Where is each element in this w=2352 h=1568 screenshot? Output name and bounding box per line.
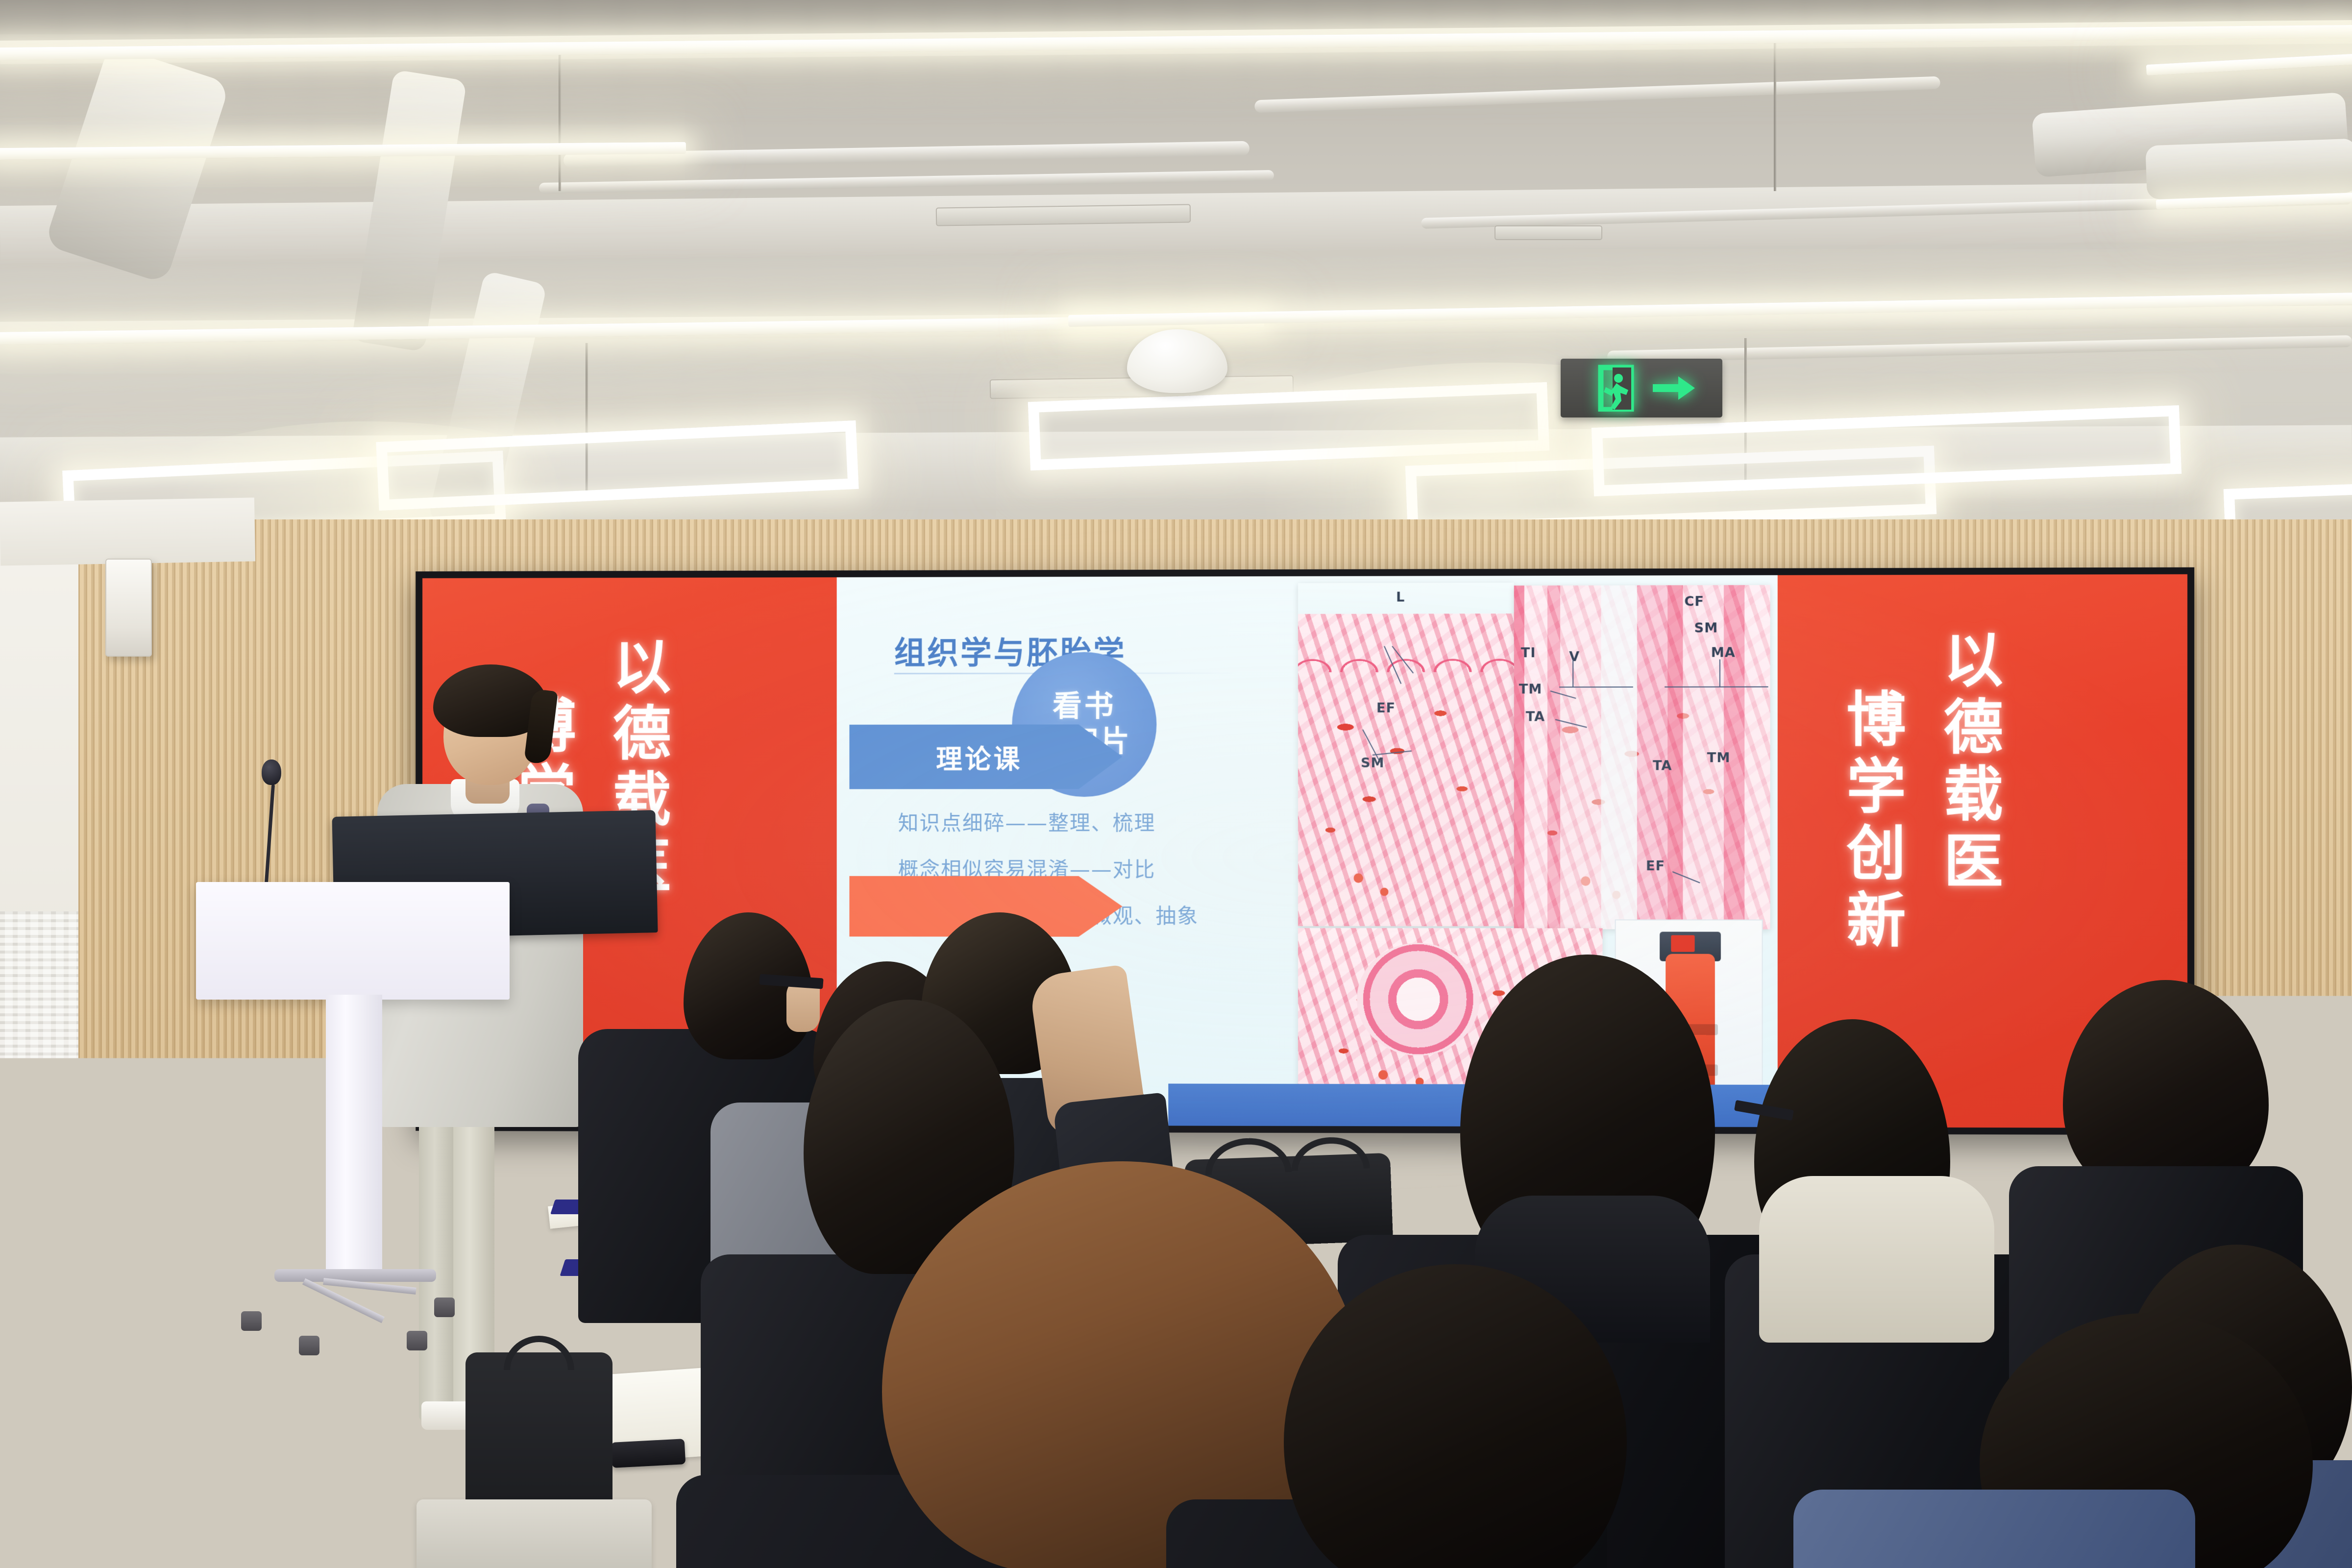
slide-blue-arrow: 理论课 xyxy=(849,724,1122,789)
calligraphy-right-col-1: 以德载医 xyxy=(1925,629,2009,956)
micro-label-MA: MA xyxy=(1711,645,1736,660)
podium-desk-surface[interactable] xyxy=(196,882,510,1000)
micro-label-CF: CF xyxy=(1684,594,1704,609)
circle-badge-line1: 看书 xyxy=(1053,691,1116,723)
podium-microphone-head[interactable] xyxy=(262,759,281,785)
podium-base-plate xyxy=(274,1269,436,1282)
exit-arrow-right-icon xyxy=(1652,373,1697,403)
micro-label-SM: SM xyxy=(1361,756,1384,771)
calligraphy-right: 以德载医 博学创新 xyxy=(1828,629,2010,956)
blue-arrow-label: 理论课 xyxy=(936,737,1022,776)
running-man-exit-icon xyxy=(1586,365,1645,412)
smartphone-on-desk[interactable] xyxy=(611,1439,686,1468)
slide-bullet-1: 知识点细碎——整理、梳理 xyxy=(898,807,1199,836)
wall-soffit xyxy=(0,497,255,565)
micro-label-TA-2: TA xyxy=(1653,758,1672,773)
lecture-hall-photo: 以德载医 博学创新 以德载医 博学创新 组织学与胚胎学 看书 看切片 理论课 xyxy=(0,0,2352,1568)
emergency-exit-sign xyxy=(1561,359,1722,417)
podium-caster-3 xyxy=(407,1331,427,1350)
micro-label-L: L xyxy=(1396,590,1405,605)
micro-label-EF-2: EF xyxy=(1646,858,1665,874)
jacket-hood-beige xyxy=(1759,1176,1994,1343)
micro-label-TI: TI xyxy=(1521,645,1536,661)
podium-caster-4 xyxy=(434,1298,455,1317)
micro-label-TM-2: TM xyxy=(1707,750,1731,765)
ceiling-diffuser-3 xyxy=(1494,225,1602,240)
hvac-duct-right-2 xyxy=(2145,139,2352,200)
wall-speaker xyxy=(105,559,152,657)
ceiling-hanger-1 xyxy=(559,44,561,191)
micro-label-TM: TM xyxy=(1519,682,1542,697)
micro-label-TA: TA xyxy=(1526,709,1545,724)
ceiling-diffuser-1 xyxy=(936,204,1191,226)
micro-label-V: V xyxy=(1569,649,1580,664)
micrograph-right: CF SM MA TI V TM TA TM TA EF xyxy=(1514,585,1770,930)
chair-back-left xyxy=(416,1499,652,1568)
podium-column xyxy=(326,995,382,1269)
micro-label-EF: EF xyxy=(1376,701,1396,716)
micrograph-left: L EF SM xyxy=(1298,583,1514,926)
micro-label-SM-r: SM xyxy=(1694,620,1718,636)
ceiling-hanger-2 xyxy=(1774,39,1776,191)
podium-caster-2 xyxy=(299,1336,319,1355)
podium-caster-1 xyxy=(241,1311,262,1331)
calligraphy-right-col-2: 博学创新 xyxy=(1828,688,1912,956)
